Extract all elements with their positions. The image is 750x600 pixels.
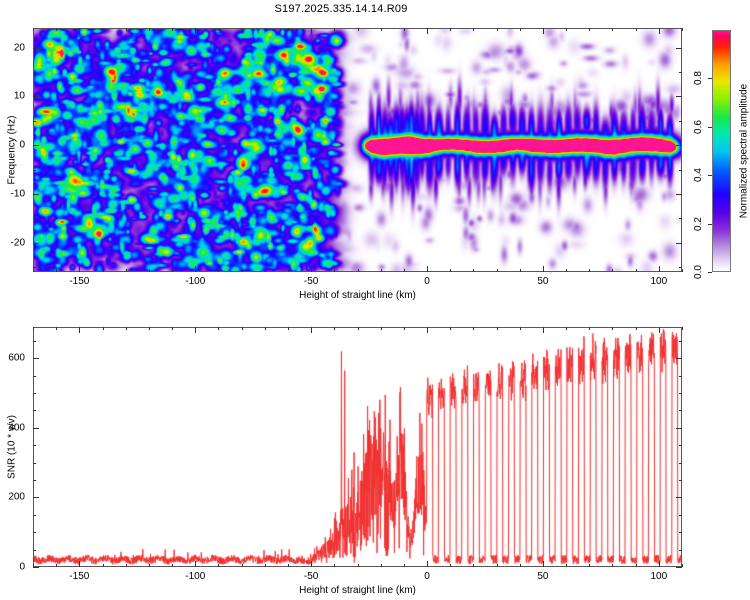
x-minor-tick	[612, 269, 613, 272]
x-minor-tick	[589, 269, 590, 272]
y-minor-tick	[679, 550, 682, 551]
x-minor-tick	[56, 327, 57, 330]
spectrogram-y-axis-title: Frequency (Hz)	[7, 116, 18, 185]
y-tick	[676, 96, 682, 97]
x-minor-tick	[265, 28, 266, 31]
x-minor-tick	[566, 28, 567, 31]
y-tick-label: 200	[0, 492, 25, 503]
x-minor-tick	[450, 269, 451, 272]
x-minor-tick	[450, 564, 451, 567]
x-minor-tick	[450, 28, 451, 31]
x-tick-label: -100	[185, 276, 205, 287]
x-tick	[79, 28, 80, 34]
x-minor-tick	[659, 269, 660, 272]
x-minor-tick	[288, 564, 289, 567]
x-tick	[311, 327, 312, 333]
x-minor-tick	[473, 28, 474, 31]
x-minor-tick	[358, 564, 359, 567]
x-minor-tick	[126, 269, 127, 272]
x-minor-tick	[149, 269, 150, 272]
y-minor-tick	[679, 170, 682, 171]
x-tick	[79, 561, 80, 567]
x-minor-tick	[682, 327, 683, 330]
y-tick	[33, 96, 39, 97]
x-minor-tick	[520, 327, 521, 330]
colorbar[interactable]	[712, 30, 731, 272]
y-minor-tick	[679, 341, 682, 342]
colorbar-tick-label: 0.6	[693, 120, 704, 134]
x-tick	[195, 327, 196, 333]
x-minor-tick	[659, 327, 660, 330]
x-tick	[195, 28, 196, 34]
x-minor-tick	[334, 269, 335, 272]
x-minor-tick	[126, 327, 127, 330]
x-minor-tick	[242, 269, 243, 272]
y-minor-tick	[679, 121, 682, 122]
x-minor-tick	[612, 327, 613, 330]
snr-trace-plot	[34, 328, 681, 566]
x-minor-tick	[242, 327, 243, 330]
x-minor-tick	[33, 28, 34, 31]
y-tick	[33, 567, 39, 568]
y-tick-label: 10	[0, 91, 25, 102]
x-minor-tick	[473, 269, 474, 272]
y-tick	[676, 358, 682, 359]
colorbar-tick	[708, 175, 712, 176]
snr-x-axis-title: Height of straight line (km)	[299, 585, 416, 596]
spectrogram-image	[34, 29, 681, 271]
x-minor-tick	[242, 28, 243, 31]
x-minor-tick	[612, 564, 613, 567]
x-minor-tick	[612, 28, 613, 31]
x-minor-tick	[381, 564, 382, 567]
x-minor-tick	[242, 564, 243, 567]
x-tick	[427, 266, 428, 272]
colorbar-tick	[708, 78, 712, 79]
x-minor-tick	[172, 327, 173, 330]
y-minor-tick	[33, 72, 36, 73]
x-minor-tick	[172, 269, 173, 272]
x-minor-tick	[497, 28, 498, 31]
x-tick	[427, 327, 428, 333]
x-tick	[79, 327, 80, 333]
y-tick	[676, 145, 682, 146]
x-minor-tick	[56, 269, 57, 272]
x-minor-tick	[381, 327, 382, 330]
y-minor-tick	[33, 410, 36, 411]
x-tick	[543, 561, 544, 567]
x-tick	[543, 28, 544, 34]
x-minor-tick	[149, 564, 150, 567]
y-minor-tick	[679, 72, 682, 73]
x-minor-tick	[473, 327, 474, 330]
x-tick	[311, 266, 312, 272]
x-minor-tick	[473, 564, 474, 567]
x-minor-tick	[265, 327, 266, 330]
x-minor-tick	[636, 327, 637, 330]
spectrogram-panel[interactable]	[33, 28, 682, 272]
y-tick-label: 600	[0, 353, 25, 364]
y-minor-tick	[33, 463, 36, 464]
x-minor-tick	[381, 28, 382, 31]
x-minor-tick	[126, 564, 127, 567]
x-tick-label: -50	[304, 571, 318, 582]
y-minor-tick	[33, 376, 36, 377]
x-minor-tick	[682, 269, 683, 272]
y-tick	[33, 497, 39, 498]
y-minor-tick	[33, 393, 36, 394]
y-minor-tick	[679, 445, 682, 446]
y-minor-tick	[33, 218, 36, 219]
x-minor-tick	[358, 28, 359, 31]
x-minor-tick	[288, 269, 289, 272]
y-minor-tick	[679, 218, 682, 219]
x-minor-tick	[636, 564, 637, 567]
x-minor-tick	[589, 327, 590, 330]
x-minor-tick	[334, 327, 335, 330]
x-tick	[427, 28, 428, 34]
x-tick-label: 0	[424, 276, 430, 287]
y-tick	[676, 567, 682, 568]
x-minor-tick	[288, 28, 289, 31]
x-minor-tick	[404, 564, 405, 567]
x-minor-tick	[497, 564, 498, 567]
y-minor-tick	[33, 445, 36, 446]
x-minor-tick	[404, 269, 405, 272]
x-minor-tick	[358, 269, 359, 272]
x-minor-tick	[334, 564, 335, 567]
x-minor-tick	[589, 28, 590, 31]
x-minor-tick	[218, 269, 219, 272]
y-tick	[33, 243, 39, 244]
x-minor-tick	[682, 564, 683, 567]
y-tick	[33, 48, 39, 49]
y-tick	[676, 194, 682, 195]
colorbar-gradient	[713, 31, 730, 271]
y-minor-tick	[33, 480, 36, 481]
x-minor-tick	[589, 564, 590, 567]
x-minor-tick	[404, 28, 405, 31]
x-minor-tick	[520, 28, 521, 31]
y-minor-tick	[679, 410, 682, 411]
y-minor-tick	[679, 463, 682, 464]
x-tick-label: 50	[537, 571, 548, 582]
x-tick-label: 100	[650, 276, 667, 287]
y-tick-label: 20	[0, 42, 25, 53]
x-tick	[311, 561, 312, 567]
x-minor-tick	[218, 28, 219, 31]
x-tick	[543, 327, 544, 333]
y-minor-tick	[679, 515, 682, 516]
x-minor-tick	[636, 28, 637, 31]
x-minor-tick	[520, 269, 521, 272]
y-minor-tick	[33, 121, 36, 122]
colorbar-tick-label: 0.8	[693, 71, 704, 85]
y-tick	[676, 497, 682, 498]
x-minor-tick	[636, 269, 637, 272]
x-tick-label: -150	[69, 571, 89, 582]
x-minor-tick	[218, 564, 219, 567]
x-tick	[195, 266, 196, 272]
x-tick-label: -50	[304, 276, 318, 287]
x-minor-tick	[288, 327, 289, 330]
x-minor-tick	[659, 28, 660, 31]
x-tick-label: -150	[69, 276, 89, 287]
y-minor-tick	[679, 267, 682, 268]
x-tick	[195, 561, 196, 567]
y-minor-tick	[679, 376, 682, 377]
y-tick	[33, 194, 39, 195]
x-minor-tick	[103, 564, 104, 567]
y-minor-tick	[679, 393, 682, 394]
x-minor-tick	[381, 269, 382, 272]
x-minor-tick	[33, 269, 34, 272]
x-tick-label: 50	[537, 276, 548, 287]
x-minor-tick	[126, 28, 127, 31]
y-minor-tick	[33, 515, 36, 516]
y-minor-tick	[33, 550, 36, 551]
y-tick	[676, 243, 682, 244]
x-minor-tick	[566, 564, 567, 567]
x-minor-tick	[103, 28, 104, 31]
y-tick-label: -20	[0, 237, 25, 248]
x-minor-tick	[33, 327, 34, 330]
x-minor-tick	[172, 28, 173, 31]
colorbar-tick	[708, 272, 712, 273]
snr-panel[interactable]	[33, 327, 682, 567]
y-tick	[33, 428, 39, 429]
x-tick	[427, 561, 428, 567]
x-minor-tick	[218, 327, 219, 330]
y-minor-tick	[33, 341, 36, 342]
y-minor-tick	[33, 170, 36, 171]
x-minor-tick	[56, 564, 57, 567]
x-tick	[543, 266, 544, 272]
y-tick	[33, 145, 39, 146]
snr-y-axis-title: SNR (10 * v/v)	[7, 415, 18, 479]
x-minor-tick	[497, 327, 498, 330]
colorbar-tick-label: 0.0	[693, 265, 704, 279]
x-tick-label: 100	[650, 571, 667, 582]
x-minor-tick	[497, 269, 498, 272]
x-minor-tick	[56, 28, 57, 31]
y-tick	[676, 428, 682, 429]
colorbar-tick-label: 0.4	[693, 168, 704, 182]
x-minor-tick	[103, 269, 104, 272]
x-tick-label: -100	[185, 571, 205, 582]
x-minor-tick	[520, 564, 521, 567]
x-minor-tick	[149, 28, 150, 31]
colorbar-title: Normalized spectral amplitude	[739, 84, 750, 219]
x-minor-tick	[265, 564, 266, 567]
y-minor-tick	[33, 532, 36, 533]
colorbar-tick	[708, 127, 712, 128]
y-minor-tick	[679, 480, 682, 481]
x-minor-tick	[172, 564, 173, 567]
y-tick	[33, 358, 39, 359]
x-minor-tick	[265, 269, 266, 272]
x-tick	[311, 28, 312, 34]
x-tick	[79, 266, 80, 272]
x-minor-tick	[149, 327, 150, 330]
x-minor-tick	[659, 564, 660, 567]
x-minor-tick	[358, 327, 359, 330]
spectrogram-x-axis-title: Height of straight line (km)	[299, 290, 416, 301]
x-minor-tick	[404, 327, 405, 330]
figure-title: S197.2025.335.14.14.R09	[0, 3, 682, 15]
colorbar-tick	[708, 224, 712, 225]
x-tick-label: 0	[424, 571, 430, 582]
y-tick-label: 0	[0, 562, 25, 573]
x-minor-tick	[566, 327, 567, 330]
y-tick-label: -10	[0, 188, 25, 199]
y-minor-tick	[33, 267, 36, 268]
colorbar-tick-label: 0.2	[693, 217, 704, 231]
x-minor-tick	[103, 327, 104, 330]
figure-root: S197.2025.335.14.14.R09 -150-100-5005010…	[0, 0, 750, 600]
y-tick	[676, 48, 682, 49]
x-minor-tick	[450, 327, 451, 330]
x-minor-tick	[682, 28, 683, 31]
y-minor-tick	[679, 532, 682, 533]
x-minor-tick	[334, 28, 335, 31]
x-minor-tick	[566, 269, 567, 272]
